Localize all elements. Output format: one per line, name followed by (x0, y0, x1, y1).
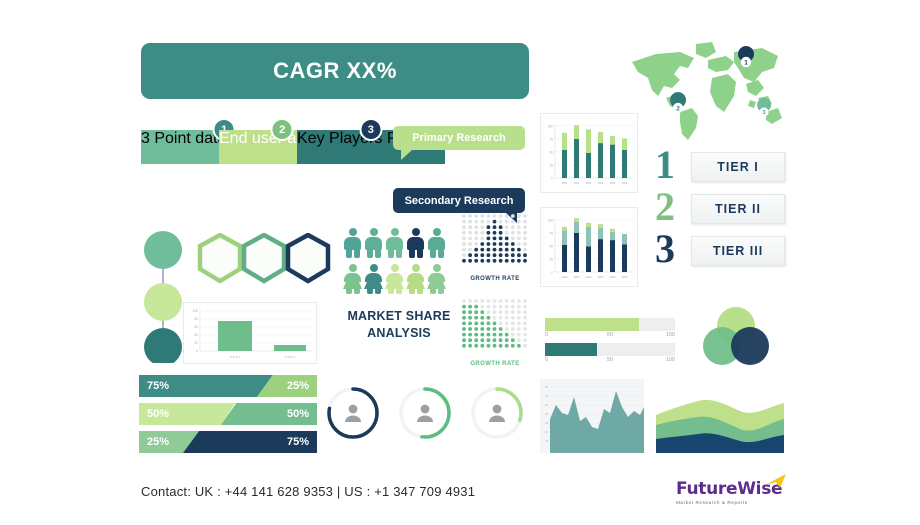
growth-rate-pyramid: GROWTH RATE (458, 212, 532, 284)
tier-row-2: 2 TIER II (655, 192, 790, 226)
svg-text:20: 20 (194, 341, 198, 345)
chain-circle-2 (144, 283, 182, 321)
svg-text:2026: 2026 (622, 275, 628, 279)
tier-list: 1 TIER I 2 TIER II 3 TIER III (655, 150, 790, 268)
donut-chart-1-svg (324, 384, 382, 442)
stacked-bar-bottom-chart: 025 5075100 202120222023 202420252026 (540, 207, 638, 287)
arrow-icon (764, 474, 788, 490)
svg-text:60: 60 (194, 325, 198, 329)
tier-number-2: 2 (655, 187, 675, 227)
jagged-area-chart-svg: 807060 50403020 (540, 379, 644, 453)
svg-text:100: 100 (193, 309, 199, 313)
two-bar-chart-svg: 02040 6080100 TITLE 1TITLE 2 (184, 303, 316, 363)
bubble-tail-primary (401, 150, 412, 160)
donut-chart-2-svg (396, 384, 454, 442)
svg-text:75: 75 (549, 138, 553, 142)
stacked-area-chart (656, 379, 784, 453)
slider-1-fill (545, 318, 639, 331)
bar-title-2 (274, 345, 306, 351)
tier-plate-2: TIER II (691, 194, 785, 224)
svg-text:2024: 2024 (598, 275, 604, 279)
people-row-male (344, 228, 454, 258)
growth-rate-stairs-svg: GROWTH RATE (458, 297, 532, 369)
svg-text:75: 75 (549, 232, 553, 236)
step-tail-3 (297, 148, 445, 164)
svg-text:100: 100 (548, 219, 554, 223)
growth-rate-stairs-caption: GROWTH RATE (470, 361, 519, 367)
slider-1[interactable]: 0 50 100 (545, 318, 675, 341)
secondary-research-label: Secondary Research (405, 195, 514, 207)
svg-text:2024: 2024 (598, 181, 604, 185)
svg-text:0: 0 (196, 349, 198, 353)
jagged-area-path (550, 391, 644, 453)
slider-1-tick-50: 50 (607, 332, 613, 338)
people-group: MARKET SHARE ANALYSIS (344, 228, 454, 342)
svg-text:50: 50 (549, 245, 553, 249)
percent-bar-3: 25% 75% (139, 431, 317, 453)
svg-text:2023: 2023 (586, 275, 592, 279)
tier-label-2: TIER II (715, 202, 761, 216)
hexagon-group-svg (196, 233, 336, 285)
svg-text:2021: 2021 (562, 181, 568, 185)
person-icon-f4 (407, 264, 424, 294)
hexagon-2 (244, 235, 284, 281)
tier-row-3: 3 TIER III (655, 234, 790, 268)
stacked-bar-bottom-svg: 025 5075100 202120222023 202420252026 (541, 208, 637, 286)
person-icon-f3 (386, 264, 403, 294)
primary-research-bubble: Primary Research (393, 126, 525, 150)
svg-text:0: 0 (551, 177, 553, 181)
futurewise-logo: FutureWise Market Research & Reports (676, 479, 782, 505)
svg-text:2026: 2026 (622, 181, 628, 185)
svg-text:2022: 2022 (574, 181, 580, 185)
svg-text:80: 80 (194, 317, 198, 321)
tier-plate-3: TIER III (691, 236, 785, 266)
slider-2-fill (545, 343, 597, 356)
percent-bar-3-right: 75% (183, 431, 317, 453)
circle-chain (140, 228, 186, 363)
donut-chart-1 (324, 384, 382, 442)
person-icon-m1 (344, 228, 361, 258)
contact-info: Contact: UK : +44 141 628 9353 | US : +1… (141, 484, 475, 499)
cagr-banner: CAGR XX% (141, 43, 529, 99)
venn-diagram-svg (694, 306, 782, 368)
donut-chart-3-svg (468, 384, 526, 442)
growth-rate-stairs: GROWTH RATE (458, 297, 532, 369)
svg-text:70: 70 (545, 394, 548, 398)
svg-text:2023: 2023 (586, 181, 592, 185)
slider-2-tick-100: 100 (666, 357, 675, 363)
svg-text:40: 40 (194, 333, 198, 337)
slider-2-tick-50: 50 (607, 357, 613, 363)
cagr-banner-title: CAGR XX% (273, 58, 397, 84)
svg-text:50: 50 (545, 412, 548, 416)
svg-text:0: 0 (551, 271, 553, 275)
slider-2-track[interactable] (545, 343, 675, 356)
svg-text:TITLE 2: TITLE 2 (285, 355, 296, 359)
growth-rate-pyramid-caption: GROWTH RATE (470, 276, 519, 282)
primary-research-label: Primary Research (412, 132, 506, 144)
slider-2-tick-0: 0 (545, 357, 548, 363)
svg-text:25: 25 (549, 164, 553, 168)
hexagon-1 (200, 235, 240, 281)
people-row-female (344, 264, 454, 294)
percent-bar-2: 50% 50% (139, 403, 317, 425)
slider-1-tick-100: 100 (666, 332, 675, 338)
two-bar-chart: 02040 6080100 TITLE 1TITLE 2 (183, 302, 317, 364)
person-icon-m2 (365, 228, 382, 258)
svg-text:2025: 2025 (610, 275, 616, 279)
tier-plate-1: TIER I (691, 152, 785, 182)
growth-rate-pyramid-svg: GROWTH RATE (458, 212, 532, 284)
svg-text:2022: 2022 (574, 275, 580, 279)
person-icon-m3 (386, 228, 403, 258)
percent-bar-1-right-label: 25% (287, 380, 309, 392)
person-icon-f1 (344, 264, 361, 294)
svg-text:TITLE 1: TITLE 1 (230, 355, 241, 359)
venn-diagram (694, 306, 782, 368)
tier-row-1: 1 TIER I (655, 150, 790, 184)
hexagon-group (196, 233, 336, 285)
tier-number-3: 3 (655, 229, 675, 269)
percent-bar-1-left-label: 75% (147, 380, 169, 392)
slider-2[interactable]: 0 50 100 (545, 343, 675, 366)
donut-chart-3 (468, 384, 526, 442)
person-icon-f5 (428, 264, 445, 294)
slider-1-tick-0: 0 (545, 332, 548, 338)
svg-text:1: 1 (744, 59, 748, 66)
tier-label-1: TIER I (717, 160, 758, 174)
bar-title-1 (218, 321, 252, 351)
chain-circle-3 (144, 328, 182, 363)
chain-circle-1 (144, 231, 182, 269)
percent-bar-2-right: 50% (221, 403, 317, 425)
hexagon-3 (288, 235, 328, 281)
svg-text:25: 25 (549, 258, 553, 262)
percent-bar-2-right-label: 50% (287, 408, 309, 420)
svg-text:30: 30 (545, 430, 548, 434)
tier-number-1: 1 (655, 145, 675, 185)
percent-bar-1-left: 75% (139, 375, 273, 397)
svg-text:60: 60 (545, 403, 548, 407)
stacked-area-chart-svg (656, 379, 784, 453)
world-map-svg: 1 2 3 (622, 36, 790, 142)
person-icon-m5 (428, 228, 445, 258)
logo-tagline: Market Research & Reports (676, 500, 782, 505)
tier-label-3: TIER III (713, 244, 763, 258)
venn-circle-right (731, 327, 769, 365)
percent-bar-1: 75% 25% (139, 375, 317, 397)
secondary-research-bubble: Secondary Research (393, 188, 525, 213)
infographic-canvas: CAGR XX% 1 3 Point data verification 2 E… (0, 0, 920, 525)
svg-text:2021: 2021 (562, 275, 568, 279)
svg-text:50: 50 (549, 151, 553, 155)
circle-chain-svg (140, 228, 186, 363)
svg-text:40: 40 (545, 421, 548, 425)
jagged-area-chart: 807060 50403020 (540, 379, 644, 453)
svg-text:2: 2 (676, 105, 680, 112)
donut-chart-2 (396, 384, 454, 442)
person-icon-m4 (407, 228, 424, 258)
person-icon-f2 (365, 264, 382, 294)
svg-text:2025: 2025 (610, 181, 616, 185)
slider-1-track[interactable] (545, 318, 675, 331)
world-map: 1 2 3 (622, 36, 790, 142)
percent-bar-2-left-label: 50% (147, 408, 169, 420)
percent-bar-3-left-label: 25% (147, 436, 169, 448)
svg-text:100: 100 (548, 125, 554, 129)
step-badge-2: 2 (271, 118, 294, 141)
svg-text:20: 20 (545, 439, 548, 443)
percent-bar-3-right-label: 75% (287, 436, 309, 448)
market-share-title: MARKET SHARE ANALYSIS (344, 308, 454, 342)
percent-bar-2-left: 50% (139, 403, 235, 425)
step-badge-3: 3 (359, 118, 382, 141)
svg-text:80: 80 (545, 385, 548, 389)
